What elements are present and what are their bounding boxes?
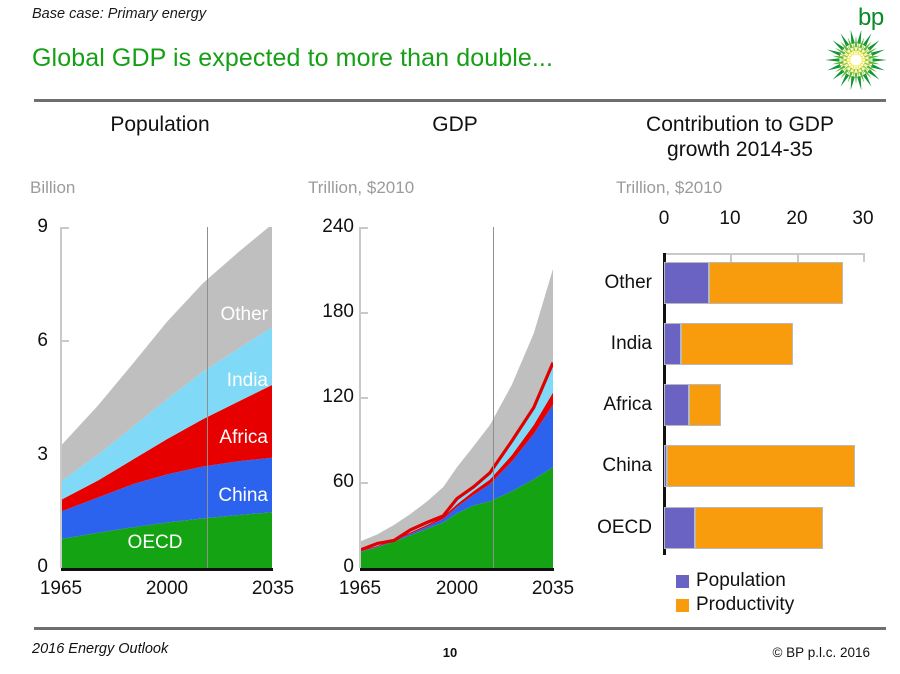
contribution-cat-india: India (568, 333, 652, 355)
footer-copyright: © BP p.l.c. 2016 (772, 645, 870, 660)
slide-root: Base case: Primary energy Global GDP is … (0, 0, 900, 674)
contribution-tick-30 (863, 253, 865, 262)
legend-swatch-population (676, 575, 689, 588)
population-area-label-china: China (150, 485, 268, 507)
population-forecast-divider (207, 227, 208, 568)
gdp-ytick-0: 0 (296, 556, 354, 578)
bp-logo: bp (818, 4, 892, 92)
bar-africa-population (664, 384, 690, 426)
contribution-xtick-0: 0 (641, 208, 687, 230)
bar-india-productivity (681, 323, 793, 365)
gdp-unit-label: Trillion, $2010 (308, 178, 414, 198)
contribution-tick-10 (730, 253, 732, 262)
contribution-xtick-30: 30 (840, 208, 886, 230)
gdp-plot-area (361, 227, 553, 568)
contribution-cat-other: Other (568, 272, 652, 294)
header-divider (34, 99, 886, 102)
population-ytick-6: 6 (6, 330, 48, 352)
bar-oecd-productivity (695, 507, 822, 549)
contribution-xtick-10: 10 (707, 208, 753, 230)
gdp-ytick-180: 180 (296, 301, 354, 323)
population-area-label-oecd: OECD (110, 532, 200, 554)
gdp-area-svg (361, 227, 553, 568)
legend-label-population: Population (696, 570, 786, 592)
legend-swatch-productivity (676, 599, 689, 612)
contribution-cat-africa: Africa (568, 394, 652, 416)
population-ytick-9: 9 (6, 216, 48, 238)
contribution-tick-20 (797, 253, 799, 262)
population-unit-label: Billion (30, 178, 75, 198)
slide-eyebrow: Base case: Primary energy (32, 6, 206, 22)
population-ytick-0: 0 (6, 556, 48, 578)
gdp-xtick-2000: 2000 (412, 578, 502, 600)
gdp-ytick-240: 240 (296, 216, 354, 238)
gdp-ytick-60: 60 (296, 471, 354, 493)
gdp-forecast-divider (493, 227, 494, 568)
bar-other-productivity (709, 262, 843, 304)
bar-other-population (664, 262, 709, 304)
contribution-unit-label: Trillion, $2010 (616, 178, 722, 198)
page-number: 10 (0, 645, 900, 660)
legend-label-productivity: Productivity (696, 594, 794, 616)
population-area-label-other: Other (150, 304, 268, 326)
population-area-label-africa: Africa (150, 427, 268, 449)
population-xtick-1965: 1965 (16, 578, 106, 600)
contribution-chart-title-line1: Contribution to GDP (600, 112, 880, 137)
bar-africa-productivity (689, 384, 720, 426)
population-x-axis (61, 568, 273, 571)
population-xtick-2000: 2000 (122, 578, 212, 600)
population-ytick-3: 3 (6, 444, 48, 466)
bar-india-population (664, 323, 681, 365)
page-title: Global GDP is expected to more than doub… (32, 44, 553, 73)
contribution-top-axis-line (664, 253, 864, 255)
population-area-svg (62, 227, 272, 568)
gdp-xtick-2035: 2035 (508, 578, 598, 600)
gdp-ytick-120: 120 (296, 386, 354, 408)
population-plot-area (62, 227, 272, 568)
population-chart-title: Population (40, 112, 280, 137)
population-area-label-india: India (150, 370, 268, 392)
footer-divider (34, 627, 886, 630)
gdp-chart-title: GDP (340, 112, 570, 137)
contribution-cat-china: China (568, 455, 652, 477)
contribution-cat-oecd: OECD (568, 517, 652, 539)
contribution-chart-title-line2: growth 2014-35 (600, 137, 880, 162)
legend-item-population: Population (676, 570, 786, 592)
gdp-x-axis (360, 568, 554, 571)
bar-oecd-population (664, 507, 696, 549)
gdp-xtick-1965: 1965 (315, 578, 405, 600)
bar-china-productivity (667, 445, 855, 487)
bp-helios-icon (824, 28, 888, 92)
legend-item-productivity: Productivity (676, 594, 794, 616)
contribution-xtick-20: 20 (774, 208, 820, 230)
population-xtick-2035: 2035 (228, 578, 318, 600)
